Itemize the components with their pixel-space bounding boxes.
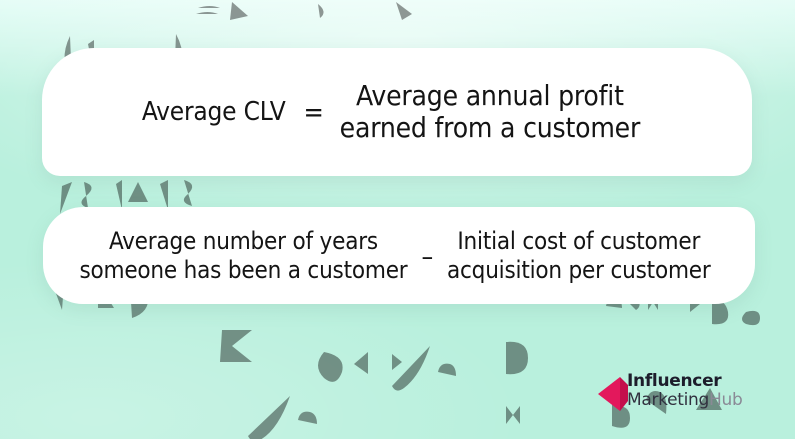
denominator-equation: Average number of years someone has been… [79,227,710,284]
denominator-right-expression: Initial cost of customer acquisition per… [447,227,711,284]
logo-word-marketing: Marketing [627,390,709,410]
denominator-left-line-2: someone has been a customer [79,256,407,284]
numerator-line-2: earned from a customer [340,112,640,144]
equals-operator: = [304,99,324,126]
logo-wordmark: Influencer MarketingHub [627,373,742,409]
denominator-card: Average number of years someone has been… [43,207,755,304]
minus-operator: – [421,244,433,270]
left-triangle-icon [598,377,632,411]
average-clv-label: Average CLV [142,98,286,127]
numerator-equation: Average CLV = Average annual profit earn… [142,80,640,145]
denominator-left-line-1: Average number of years [109,227,378,255]
numerator-card: Average CLV = Average annual profit earn… [42,48,752,176]
denominator-right-line-2: acquisition per customer [447,256,711,284]
numerator-line-1: Average annual profit [356,80,624,112]
logo-line-marketinghub: MarketingHub [627,392,742,409]
logo-line-influencer: Influencer [627,373,742,390]
slide-canvas: Average CLV = Average annual profit earn… [0,0,795,439]
influencer-marketing-hub-logo[interactable]: Influencer MarketingHub [598,369,748,413]
denominator-left-expression: Average number of years someone has been… [79,227,407,284]
logo-word-hub: Hub [709,390,742,410]
denominator-right-line-1: Initial cost of customer [457,227,700,255]
numerator-expression: Average annual profit earned from a cust… [340,80,640,145]
